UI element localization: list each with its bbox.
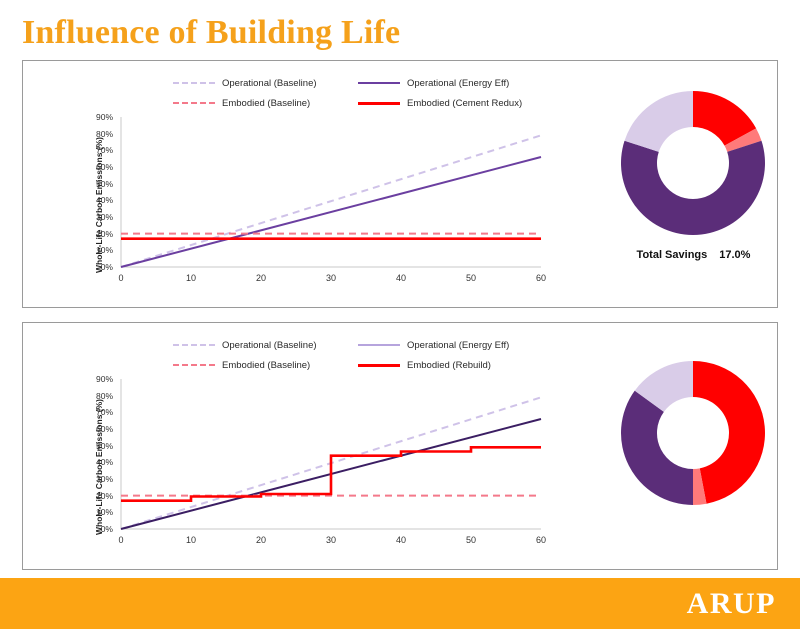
y-tick-label: 50%: [96, 441, 113, 451]
donut-slice-operational-energy-eff: [621, 141, 765, 235]
x-tick-label: 20: [256, 273, 266, 283]
line-chart-svg: [121, 117, 541, 267]
line-chart-svg: [121, 379, 541, 529]
legend-swatch-solid-red-icon: [358, 364, 400, 367]
legend-panel-2: Operational (Baseline) Operational (Ener…: [173, 335, 573, 375]
y-tick-label: 20%: [96, 491, 113, 501]
chart-panel-rebuild: Operational (Baseline) Operational (Ener…: [22, 322, 778, 570]
arup-logo: ARUP: [687, 587, 776, 621]
y-axis-ticks: 0%10%20%30%40%50%60%70%80%90%: [83, 117, 117, 267]
total-savings: Total Savings17.0%: [606, 249, 781, 261]
legend-item-embodied-rebuild: Embodied (Rebuild): [358, 360, 573, 371]
legend-swatch-solid-red-icon: [358, 102, 400, 105]
y-axis-ticks: 0%10%20%30%40%50%60%70%80%90%: [83, 379, 117, 529]
page-title: Influence of Building Life: [22, 14, 400, 52]
y-tick-label: 30%: [96, 212, 113, 222]
y-tick-label: 80%: [96, 391, 113, 401]
legend-item-operational-baseline: Operational (Baseline): [173, 78, 358, 89]
x-tick-label: 60: [536, 273, 546, 283]
y-tick-label: 20%: [96, 229, 113, 239]
y-tick-label: 10%: [96, 245, 113, 255]
x-tick-label: 10: [186, 535, 196, 545]
y-tick-label: 70%: [96, 145, 113, 155]
legend-item-embodied-baseline: Embodied (Baseline): [173, 98, 358, 109]
legend-swatch-solid-lavender-icon: [358, 344, 400, 346]
y-tick-label: 10%: [96, 507, 113, 517]
x-axis-ticks: 0102030405060: [121, 531, 541, 549]
legend-item-embodied-baseline: Embodied (Baseline): [173, 360, 358, 371]
y-tick-label: 30%: [96, 474, 113, 484]
x-tick-label: 0: [118, 535, 123, 545]
x-tick-label: 0: [118, 273, 123, 283]
x-tick-label: 60: [536, 535, 546, 545]
series-embodied-rebuild: [121, 447, 541, 500]
x-tick-label: 30: [326, 273, 336, 283]
donut-slice-operational-saving: [625, 91, 693, 152]
x-tick-label: 40: [396, 273, 406, 283]
y-tick-label: 0%: [101, 524, 113, 534]
footer-band: ARUP: [0, 578, 800, 629]
y-tick-label: 90%: [96, 112, 113, 122]
y-tick-label: 40%: [96, 457, 113, 467]
plot-cement-reduction: Whole-Life Carbon Emissions (%) 0%10%20%…: [83, 117, 558, 292]
legend-label: Embodied (Baseline): [222, 98, 310, 109]
total-savings-value: 17.0%: [719, 249, 750, 261]
legend-swatch-dashed-pink-icon: [173, 364, 215, 366]
plot-canvas: [121, 379, 541, 529]
x-axis-ticks: 0102030405060: [121, 269, 541, 287]
x-tick-label: 50: [466, 273, 476, 283]
x-tick-label: 10: [186, 273, 196, 283]
legend-item-operational-energy-eff: Operational (Energy Eff): [358, 78, 573, 89]
y-tick-label: 60%: [96, 162, 113, 172]
donut-chart-svg: [606, 351, 781, 516]
y-tick-label: 80%: [96, 129, 113, 139]
legend-label: Embodied (Rebuild): [407, 360, 491, 371]
y-tick-label: 60%: [96, 424, 113, 434]
x-tick-label: 20: [256, 535, 266, 545]
legend-label: Operational (Baseline): [222, 78, 317, 89]
legend-label: Operational (Baseline): [222, 340, 317, 351]
series-operational-baseline: [121, 135, 541, 267]
legend-item-embodied-cement-redux: Embodied (Cement Redux): [358, 98, 573, 109]
y-tick-label: 90%: [96, 374, 113, 384]
y-tick-label: 50%: [96, 179, 113, 189]
donut-chart-svg: [606, 81, 781, 246]
x-tick-label: 40: [396, 535, 406, 545]
x-tick-label: 30: [326, 535, 336, 545]
x-tick-label: 50: [466, 535, 476, 545]
y-tick-label: 70%: [96, 407, 113, 417]
legend-label: Operational (Energy Eff): [407, 78, 509, 89]
chart-panel-cement-reduction: Operational (Baseline) Operational (Ener…: [22, 60, 778, 308]
plot-canvas: [121, 117, 541, 267]
donut-slice-operational-energy-eff: [621, 391, 693, 505]
legend-swatch-solid-purple-icon: [358, 82, 400, 84]
legend-swatch-dashed-pink-icon: [173, 102, 215, 104]
legend-label: Embodied (Cement Redux): [407, 98, 522, 109]
slide: Influence of Building Life Operational (…: [0, 0, 800, 629]
series-operational-energy-eff: [121, 157, 541, 267]
y-tick-label: 0%: [101, 262, 113, 272]
donut-slice-embodied-rebuild: [693, 361, 765, 504]
legend-item-operational-energy-eff: Operational (Energy Eff): [358, 340, 573, 351]
legend-swatch-dashed-lavender-icon: [173, 82, 215, 84]
legend-item-operational-baseline: Operational (Baseline): [173, 340, 358, 351]
plot-rebuild: Whole-Life Carbon Emissions (%) 0%10%20%…: [83, 379, 558, 554]
donut-cement-reduction: Total Savings17.0%: [606, 81, 766, 281]
donut-rebuild: [606, 351, 766, 536]
legend-swatch-dashed-lavender-icon: [173, 344, 215, 346]
y-tick-label: 40%: [96, 195, 113, 205]
total-savings-label: Total Savings: [637, 249, 708, 261]
legend-label: Operational (Energy Eff): [407, 340, 509, 351]
legend-panel-1: Operational (Baseline) Operational (Ener…: [173, 73, 573, 113]
legend-label: Embodied (Baseline): [222, 360, 310, 371]
